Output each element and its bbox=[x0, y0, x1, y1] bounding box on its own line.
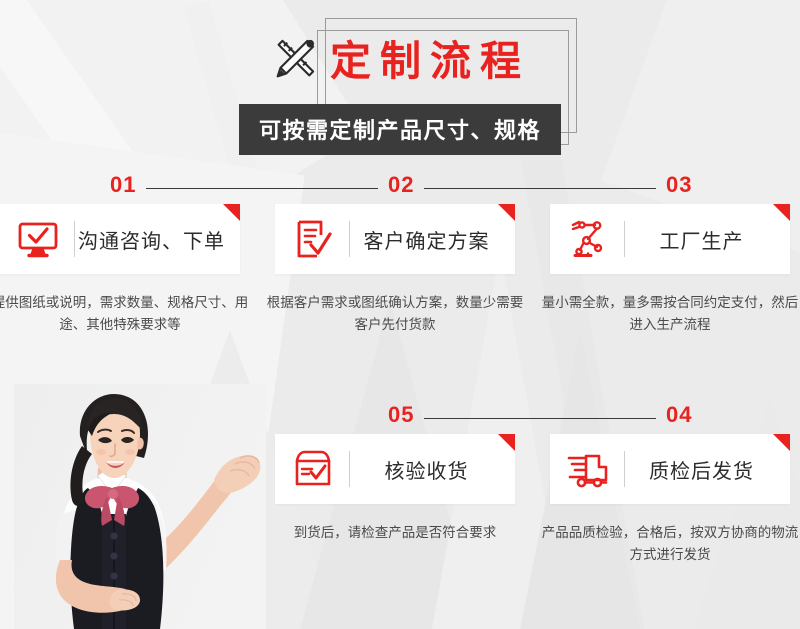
step-card-03[interactable]: 工厂生产 bbox=[550, 204, 790, 274]
step-number-03: 03 bbox=[666, 172, 692, 198]
title-row: 定制流程 bbox=[0, 38, 800, 84]
page-title: 定制流程 bbox=[330, 41, 530, 82]
step-card-05[interactable]: 核验收货 bbox=[275, 434, 515, 504]
step-card-02[interactable]: 客户确定方案 bbox=[275, 204, 515, 274]
step-card-01[interactable]: 沟通咨询、下单 bbox=[0, 204, 240, 274]
page-subtitle: 可按需定制产品尺寸、规格 bbox=[239, 104, 561, 155]
step-card-label-02: 客户确定方案 bbox=[350, 225, 515, 254]
step-number-05: 05 bbox=[388, 402, 414, 428]
step-card-label-04: 质检后发货 bbox=[625, 455, 790, 484]
step-desc-01: 提供图纸或说明，需求数量、规格尺寸、用途、其他特殊要求等 bbox=[0, 292, 250, 336]
step-desc-05: 到货后，请检查产品是否符合要求 bbox=[265, 522, 525, 544]
connector-line-02-03 bbox=[424, 188, 656, 189]
connector-line-05-04 bbox=[424, 418, 656, 419]
step-desc-04: 产品品质检验，合格后，按双方协商的物流方式进行发货 bbox=[540, 522, 800, 566]
step-desc-02: 根据客户需求或图纸确认方案，数量少需要客户先付货款 bbox=[265, 292, 525, 336]
corner-accent-icon bbox=[773, 434, 790, 451]
subtitle-wrap: 可按需定制产品尺寸、规格 bbox=[0, 104, 800, 155]
pencil-ruler-icon bbox=[270, 38, 316, 84]
robot-arm-icon bbox=[566, 217, 610, 261]
corner-accent-icon bbox=[498, 434, 515, 451]
package-check-icon bbox=[291, 447, 335, 491]
step-cards-top: 沟通咨询、下单 客户确定方案 bbox=[0, 204, 800, 284]
step-card-04[interactable]: 质检后发货 bbox=[550, 434, 790, 504]
corner-accent-icon bbox=[498, 204, 515, 221]
model-photo bbox=[14, 384, 266, 629]
step-card-label-05: 核验收货 bbox=[350, 455, 515, 484]
step-card-label-01: 沟通咨询、下单 bbox=[75, 225, 240, 254]
step-row-top: 01 02 03 bbox=[0, 172, 800, 342]
step-desc-03: 量小需全款，量多需按合同约定支付，然后进入生产流程 bbox=[540, 292, 800, 336]
step-number-01: 01 bbox=[110, 172, 136, 198]
step-number-04: 04 bbox=[666, 402, 692, 428]
document-check-icon bbox=[291, 217, 335, 261]
step-numbers-top: 01 02 03 bbox=[0, 172, 800, 204]
delivery-truck-icon bbox=[566, 447, 610, 491]
connector-line-01-02 bbox=[146, 188, 378, 189]
corner-accent-icon bbox=[223, 204, 240, 221]
step-descriptions-top: 提供图纸或说明，需求数量、规格尺寸、用途、其他特殊要求等 根据客户需求或图纸确认… bbox=[0, 284, 800, 342]
step-number-02: 02 bbox=[388, 172, 414, 198]
customization-process-banner: 定制流程 可按需定制产品尺寸、规格 01 02 03 bbox=[0, 0, 800, 629]
corner-accent-icon bbox=[773, 204, 790, 221]
monitor-check-icon bbox=[16, 217, 60, 261]
step-card-label-03: 工厂生产 bbox=[625, 225, 790, 254]
